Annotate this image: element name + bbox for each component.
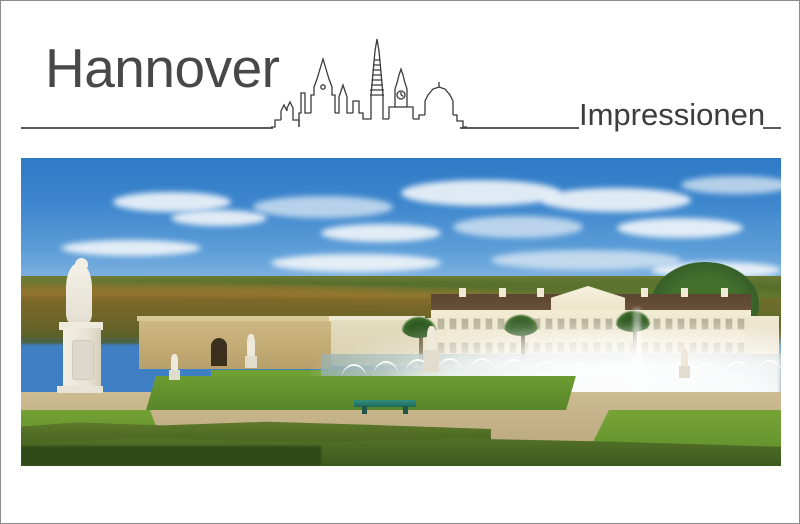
postcard-page: Hannover bbox=[0, 0, 800, 524]
garden-statue bbox=[681, 348, 688, 366]
garden-statue-pedestal bbox=[245, 356, 257, 368]
palace-chimney bbox=[681, 288, 688, 297]
palace-chimney bbox=[537, 288, 544, 297]
garden-statue bbox=[427, 326, 436, 350]
palace-chimney bbox=[459, 288, 466, 297]
photo-marble-statue-figure bbox=[66, 263, 92, 325]
hannover-skyline-icon bbox=[271, 35, 467, 130]
bench-leg bbox=[362, 406, 367, 414]
footer: deutsch|english|français|español|italian… bbox=[1, 466, 800, 524]
garden-statue-pedestal bbox=[424, 350, 439, 372]
cloud bbox=[171, 210, 267, 226]
page-subtitle: Impressionen bbox=[579, 99, 765, 130]
header-rule-left bbox=[21, 127, 273, 129]
photo-pavilion-door bbox=[211, 338, 227, 366]
garden-statue-pedestal bbox=[169, 370, 180, 380]
cloud bbox=[61, 240, 201, 256]
cloud bbox=[271, 254, 441, 272]
palace-chimney bbox=[641, 288, 648, 297]
hero-photo bbox=[21, 158, 781, 466]
cloud bbox=[541, 188, 691, 212]
cloud bbox=[321, 224, 441, 242]
cloud bbox=[401, 180, 561, 206]
cloud bbox=[453, 216, 583, 238]
cloud bbox=[253, 196, 393, 218]
header-rule-right bbox=[763, 127, 781, 129]
garden-statue bbox=[171, 354, 178, 370]
cloud bbox=[113, 192, 231, 212]
garden-statue-pedestal bbox=[679, 366, 690, 378]
photo-garden-pavilion bbox=[139, 318, 331, 369]
photo-statue-pedestal-panel bbox=[72, 340, 94, 380]
header-rule-middle bbox=[460, 127, 579, 129]
bench-leg bbox=[403, 406, 408, 414]
photo-marble-statue-head bbox=[75, 258, 88, 271]
garden-statue bbox=[247, 334, 255, 356]
photo-hedge-shadow bbox=[21, 446, 321, 466]
cloud bbox=[681, 176, 781, 194]
palace-chimney bbox=[499, 288, 506, 297]
header: Hannover bbox=[1, 1, 800, 158]
cloud bbox=[617, 218, 743, 238]
page-title: Hannover bbox=[45, 41, 279, 96]
photo-statue-base bbox=[57, 386, 103, 393]
palace-chimney bbox=[721, 288, 728, 297]
